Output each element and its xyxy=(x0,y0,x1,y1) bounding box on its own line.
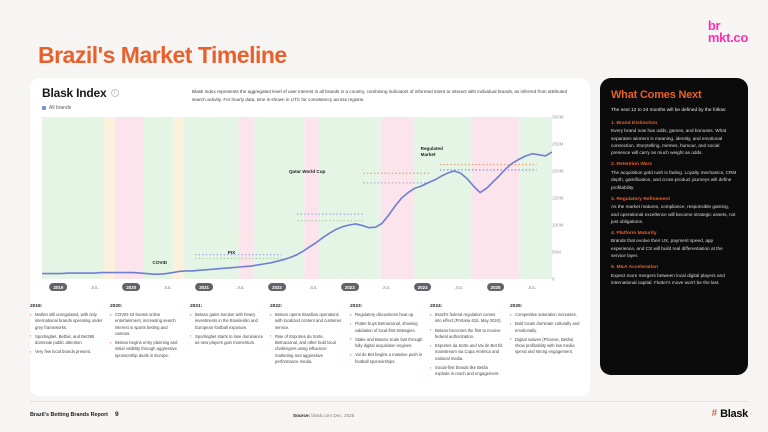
index-block: Blask Index i All brands xyxy=(42,86,182,111)
blask-hash-icon: # xyxy=(712,409,718,419)
timeline-list: Regulatory discussions heat up.Flutter b… xyxy=(350,312,423,365)
list-item: Vai de Bet begins a massive push in foot… xyxy=(350,352,423,365)
panel-section-heading: 4. Platform Maturity xyxy=(611,231,737,236)
chart-band-neutral-green xyxy=(414,117,472,279)
list-item: Sportingbet, Betfair, and Bet365 dominat… xyxy=(30,334,103,347)
footer-report: Brazil's Betting Brands Report 9 xyxy=(30,411,119,418)
panel-section: 4. Platform MaturityBrands that evolve t… xyxy=(611,231,737,260)
y-tick-150M: 150M xyxy=(552,196,564,201)
footer-source: Source: blask.com Dec, 2025 xyxy=(293,413,354,418)
x-tick-2020: 2020 xyxy=(122,283,140,291)
panel-section-heading: 3. Regulatory Refinement xyxy=(611,197,737,202)
x-tick-jul: JUL xyxy=(164,285,172,290)
panel-section: 3. Regulatory RefinementAs the market ma… xyxy=(611,197,737,226)
panel-section-body: Every brand now has odds, games, and bon… xyxy=(611,127,737,157)
chart-annotation-covid: COVID xyxy=(153,260,168,266)
panel-section-body: As the market matures, compliance, respo… xyxy=(611,203,737,225)
y-tick-100M: 100M xyxy=(552,223,564,228)
info-icon[interactable]: i xyxy=(111,89,119,97)
panel-sections: 1. Brand DistinctionEvery brand now has … xyxy=(611,121,737,287)
y-tick-200M: 200M xyxy=(552,169,564,174)
panel-section-body: The acquisition gold rush is fading. Loy… xyxy=(611,169,737,191)
timeline-year-label: 2019: xyxy=(30,304,103,309)
panel-intro: The next 12 to 24 months will be defined… xyxy=(611,107,737,115)
index-title-row: Blask Index i xyxy=(42,86,182,100)
timeline-column: 2025:Competitive saturation increases.Bo… xyxy=(510,304,590,396)
timeline-list: Competitive saturation increases.Bold lo… xyxy=(510,312,583,356)
x-tick-jul: JUL xyxy=(237,285,245,290)
footer-report-label: Brazil's Betting Brands Report xyxy=(30,412,108,418)
list-item: Very few local brands present. xyxy=(30,349,103,355)
panel-section: 5. M&A AccelerationExpect more mergers b… xyxy=(611,265,737,286)
blask-wordmark: Blask xyxy=(720,408,748,420)
chart-band-alert-pink xyxy=(472,117,519,279)
list-item: COVID-19 boosts online entertainment, in… xyxy=(110,312,183,337)
timeline-column: 2019:Market still unregulated, with only… xyxy=(30,304,110,396)
list-item: Sportingbet starts to lose dominance as … xyxy=(190,334,263,347)
chart-plot[interactable] xyxy=(42,117,552,279)
x-tick-2019: 2019 xyxy=(50,283,68,291)
timeline-year-label: 2020: xyxy=(110,304,183,309)
chart-svg xyxy=(42,117,552,279)
index-description: Blask Index represents the aggregated le… xyxy=(192,86,580,111)
list-item: Brazil's federal regulation comes into e… xyxy=(430,312,503,325)
chart-band-neutral-green xyxy=(42,117,104,279)
x-tick-jul: JUL xyxy=(309,285,317,290)
timeline-list: Brazil's federal regulation comes into e… xyxy=(430,312,503,378)
y-tick-250M: 250M xyxy=(552,142,564,147)
timeline-year-label: 2022: xyxy=(270,304,343,309)
timeline-column: 2023:Regulatory discussions heat up.Flut… xyxy=(350,304,430,396)
footer-source-label: Source: xyxy=(293,413,310,418)
legend-swatch-all-brands xyxy=(42,106,46,110)
timeline-year-label: 2021: xyxy=(190,304,263,309)
chart-band-alert-pink xyxy=(304,117,319,279)
x-tick-jul: JUL xyxy=(382,285,390,290)
chart-annotation-qatar-world-cup: Qatar World Cup xyxy=(289,169,325,175)
x-tick-2021: 2021 xyxy=(195,283,213,291)
slide: br mkt.co Brazil's Market Timeline Blask… xyxy=(0,0,768,432)
x-tick-jul: JUL xyxy=(528,285,536,290)
panel-section-heading: 5. M&A Acceleration xyxy=(611,265,737,270)
list-item: Betano gains traction with heavy investm… xyxy=(190,312,263,331)
list-item: Digital natives (PGense, Betão) show pro… xyxy=(510,337,583,356)
blask-logo: # Blask xyxy=(712,408,748,420)
list-item: Esportes da Sorte and Vai de Bet hit mai… xyxy=(430,343,503,362)
chart-y-axis: 050M100M150M200M250M300M xyxy=(552,117,586,279)
chart-annotation-pix: PIX xyxy=(228,250,235,256)
timeline-column: 2020:COVID-19 boosts online entertainmen… xyxy=(110,304,190,396)
brmkt-logo-line2: mkt.co xyxy=(708,32,748,44)
y-tick-50M: 50M xyxy=(552,250,561,255)
timeline-list: Market still unregulated, with only inte… xyxy=(30,312,103,356)
what-comes-next-panel: What Comes Next The next 12 to 24 months… xyxy=(600,78,748,375)
list-item: Betano begins entry planning and initial… xyxy=(110,340,183,359)
footer-source-value: blask.com Dec, 2025 xyxy=(311,413,354,418)
timeline-year-label: 2024: xyxy=(430,304,503,309)
chart-band-neutral-green xyxy=(519,117,552,279)
legend-label-all-brands: All brands xyxy=(49,105,71,111)
chart-x-axis: 2019JUL2020JUL2021JUL2022JUL2023JUL2024J… xyxy=(42,281,552,297)
chart-band-alert-pink xyxy=(381,117,414,279)
list-item: Regulatory discussions heat up. xyxy=(350,312,423,318)
list-item: Bold locals dominate culturally and emot… xyxy=(510,321,583,334)
chart-annotation-regulated-market: Regulated Market xyxy=(421,146,443,157)
chart-area: 050M100M150M200M250M300M 2019JUL2020JUL2… xyxy=(30,117,590,297)
chart-band-neutral-green xyxy=(144,117,173,279)
chart-legend: All brands xyxy=(42,105,182,111)
timeline-column: 2022:Betano opens Brazilian operations w… xyxy=(270,304,350,396)
panel-section-body: Brands that evolve their UX, payment spe… xyxy=(611,237,737,259)
x-tick-2024: 2024 xyxy=(414,283,432,291)
footer-divider xyxy=(30,401,748,402)
timeline-list: Betano opens Brazilian operations with l… xyxy=(270,312,343,365)
x-tick-jul: JUL xyxy=(91,285,99,290)
x-tick-jul: JUL xyxy=(455,285,463,290)
footer-page-number: 9 xyxy=(115,411,119,418)
timeline-year-label: 2023: xyxy=(350,304,423,309)
panel-section: 2. Retention WarsThe acquisition gold ru… xyxy=(611,162,737,191)
x-tick-2023: 2023 xyxy=(341,283,359,291)
index-title: Blask Index xyxy=(42,86,107,100)
timeline-list: COVID-19 boosts online entertainment, in… xyxy=(110,312,183,359)
panel-title: What Comes Next xyxy=(611,89,737,101)
list-item: Rise of Esportes da Sorte, Betnacional, … xyxy=(270,334,343,365)
chart-band-warning-amber xyxy=(173,117,184,279)
page-title: Brazil's Market Timeline xyxy=(38,42,287,69)
list-item: Flutter buys Betnacional, showing valida… xyxy=(350,321,423,334)
brmkt-logo: br mkt.co xyxy=(708,20,748,44)
chart-card-header: Blask Index i All brands Blask Index rep… xyxy=(30,78,590,111)
panel-section-body: Expect more mergers between local digita… xyxy=(611,272,737,287)
chart-band-warning-amber xyxy=(104,117,115,279)
y-tick-300M: 300M xyxy=(552,115,564,120)
list-item: Market still unregulated, with only inte… xyxy=(30,312,103,331)
y-tick-0: 0 xyxy=(552,277,555,282)
timeline-bullets: 2019:Market still unregulated, with only… xyxy=(30,304,590,396)
x-tick-2025: 2025 xyxy=(487,283,505,291)
list-item: Competitive saturation increases. xyxy=(510,312,583,318)
list-item: Betano opens Brazilian operations with l… xyxy=(270,312,343,331)
chart-band-alert-pink xyxy=(115,117,144,279)
timeline-list: Betano gains traction with heavy investm… xyxy=(190,312,263,346)
panel-section-heading: 2. Retention Wars xyxy=(611,162,737,167)
list-item: Social-first brands like Betão explode i… xyxy=(430,365,503,378)
x-tick-2022: 2022 xyxy=(268,283,286,291)
timeline-column: 2024:Brazil's federal regulation comes i… xyxy=(430,304,510,396)
panel-section-heading: 1. Brand Distinction xyxy=(611,121,737,126)
panel-section: 1. Brand DistinctionEvery brand now has … xyxy=(611,121,737,157)
chart-band-neutral-green xyxy=(319,117,381,279)
timeline-column: 2021:Betano gains traction with heavy in… xyxy=(190,304,270,396)
list-item: Betano becomes the first to receive fede… xyxy=(430,328,503,341)
timeline-year-label: 2025: xyxy=(510,304,583,309)
list-item: Stake and Betano scale fast through full… xyxy=(350,337,423,350)
